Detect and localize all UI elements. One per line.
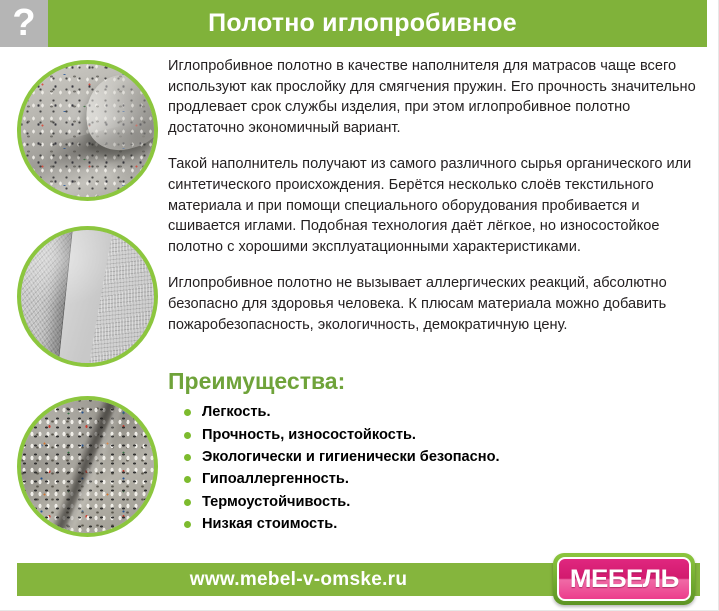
- bullet-icon: [184, 499, 191, 506]
- bullet-icon: [184, 409, 191, 416]
- photo-3-image: [21, 400, 154, 533]
- page-title: Полотно иглопробивное: [208, 9, 517, 38]
- recycled-felt-texture-photo: [17, 396, 158, 537]
- list-item: Легкость.: [184, 401, 700, 423]
- needle-punched-felt-roll-photo: [17, 60, 158, 201]
- advantages-list: Легкость. Прочность, износостойкость. Эк…: [168, 401, 700, 535]
- paragraph-3: Иглопробивное полотно не вызывает аллерг…: [168, 273, 700, 335]
- bullet-icon: [184, 521, 191, 528]
- list-item: Гипоаллергенность.: [184, 468, 700, 490]
- advantages-heading: Преимущества:: [168, 368, 700, 395]
- main-content: Иглопробивное полотно в качестве наполни…: [168, 56, 700, 536]
- list-item-label: Низкая стоимость.: [202, 516, 337, 532]
- infographic-page: ? Полотно иглопробивное: [0, 0, 719, 611]
- question-mark-glyph: ?: [12, 4, 35, 42]
- photo-1-image: [21, 64, 154, 197]
- page-header: ? Полотно иглопробивное: [0, 0, 707, 47]
- list-item: Термоустойчивость.: [184, 491, 700, 513]
- list-item-label: Легкость.: [202, 404, 271, 420]
- photo-2-image: [21, 230, 154, 363]
- mebel-logo[interactable]: МЕБЕЛЬ: [553, 553, 695, 605]
- list-item-label: Гипоаллергенность.: [202, 471, 349, 487]
- list-item: Прочность, износостойкость.: [184, 424, 700, 446]
- list-item: Низкая стоимость.: [184, 513, 700, 535]
- page-title-wrap: Полотно иглопробивное: [48, 0, 707, 47]
- bullet-icon: [184, 432, 191, 439]
- question-mark-icon: ?: [0, 0, 48, 47]
- list-item: Экологически и гигиенически безопасно.: [184, 446, 700, 468]
- list-item-label: Экологически и гигиенически безопасно.: [202, 449, 500, 465]
- paragraph-2: Такой наполнитель получают из самого раз…: [168, 154, 700, 257]
- bullet-icon: [184, 454, 191, 461]
- paragraph-1: Иглопробивное полотно в качестве наполни…: [168, 56, 700, 138]
- list-item-label: Термоустойчивость.: [202, 494, 350, 510]
- photo-2-highlight: [21, 230, 154, 363]
- list-item-label: Прочность, износостойкость.: [202, 427, 416, 443]
- mebel-logo-plate: МЕБЕЛЬ: [557, 557, 691, 601]
- light-grey-fabric-fold-photo: [17, 226, 158, 367]
- mebel-logo-text: МЕБЕЛЬ: [570, 567, 679, 592]
- bullet-icon: [184, 476, 191, 483]
